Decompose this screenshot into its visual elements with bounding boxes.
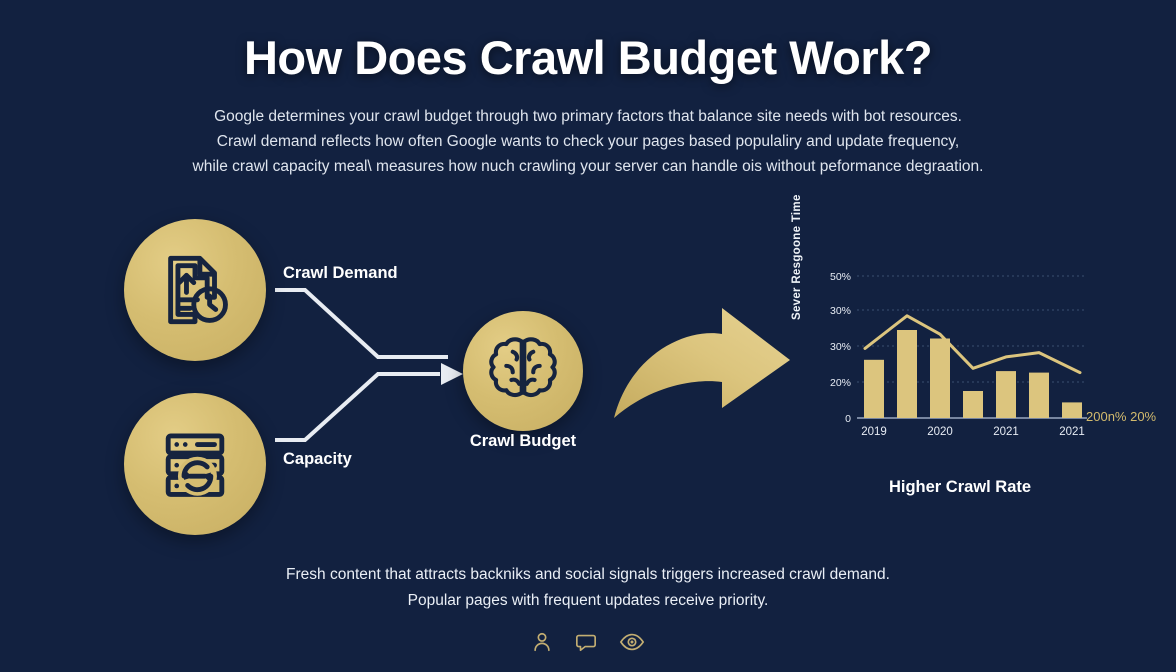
chart-x-tick-labels: 2019 2020 2021 2021 bbox=[861, 426, 1085, 438]
connector-arrowhead bbox=[441, 363, 463, 385]
connector-capacity bbox=[275, 374, 440, 440]
bar-line-chart: 50% 30% 30% 20% 0 2019 bbox=[795, 258, 1095, 458]
infographic-canvas: How Does Crawl Budget Work? Google deter… bbox=[0, 0, 1176, 672]
chart-side-note: 200n% 20% bbox=[1086, 409, 1156, 424]
footer-line-2: Popular pages with frequent updates rece… bbox=[188, 588, 988, 614]
svg-text:50%: 50% bbox=[830, 271, 851, 283]
chart-container: Sever Resgoone Time 50% 30% 30% 20% 0 bbox=[795, 258, 1095, 458]
node-label-crawl-budget: Crawl Budget bbox=[452, 432, 594, 451]
user-icon[interactable] bbox=[531, 630, 553, 654]
document-upload-clock-icon bbox=[156, 251, 234, 329]
node-capacity[interactable] bbox=[124, 393, 266, 535]
connector-demand bbox=[275, 290, 448, 357]
footer-icon-row bbox=[0, 630, 1176, 654]
page-title: How Does Crawl Budget Work? bbox=[0, 30, 1176, 85]
node-crawl-budget[interactable] bbox=[463, 311, 583, 431]
svg-text:2020: 2020 bbox=[927, 426, 953, 438]
svg-text:0: 0 bbox=[845, 413, 851, 425]
server-refresh-icon bbox=[156, 425, 234, 503]
chart-y-tick-labels: 50% 30% 30% 20% 0 bbox=[830, 271, 851, 425]
intro-line-2: Crawl demand reflects how often Google w… bbox=[108, 129, 1068, 154]
chart-bars bbox=[864, 330, 1082, 418]
svg-text:30%: 30% bbox=[830, 305, 851, 317]
curved-arrow-right-icon bbox=[600, 300, 800, 450]
svg-text:20%: 20% bbox=[830, 377, 851, 389]
svg-text:2021: 2021 bbox=[993, 426, 1019, 438]
node-label-capacity: Capacity bbox=[283, 450, 352, 469]
chart-x-axis-title: Higher Crawl Rate bbox=[795, 478, 1125, 497]
intro-line-3: while crawl capacity meal\ measures how … bbox=[108, 154, 1068, 179]
footer-note: Fresh content that attracts backniks and… bbox=[188, 562, 988, 614]
eye-icon[interactable] bbox=[619, 630, 645, 654]
comment-icon[interactable] bbox=[575, 630, 597, 654]
node-label-crawl-demand: Crawl Demand bbox=[283, 264, 398, 283]
intro-paragraph: Google determines your crawl budget thro… bbox=[108, 104, 1068, 179]
node-crawl-demand[interactable] bbox=[124, 219, 266, 361]
svg-text:2019: 2019 bbox=[861, 426, 887, 438]
intro-line-1: Google determines your crawl budget thro… bbox=[108, 104, 1068, 129]
svg-text:2021: 2021 bbox=[1059, 426, 1085, 438]
footer-line-1: Fresh content that attracts backniks and… bbox=[188, 562, 988, 588]
brain-icon bbox=[482, 330, 564, 412]
svg-text:30%: 30% bbox=[830, 341, 851, 353]
